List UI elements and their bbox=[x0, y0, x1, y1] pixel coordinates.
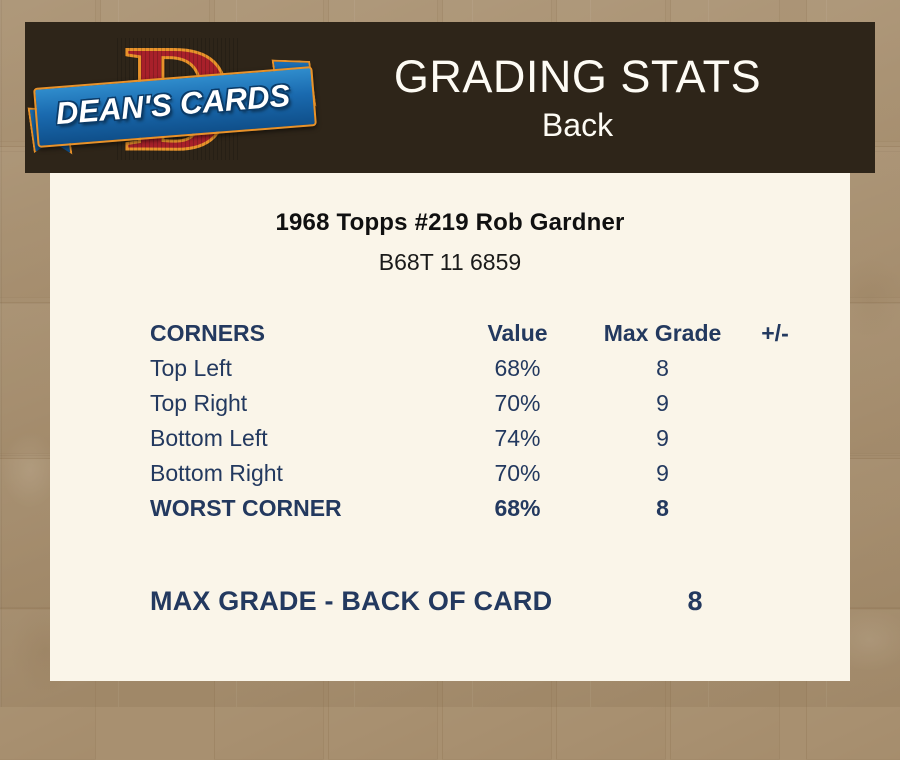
table-row: Top Right 70% 9 bbox=[150, 386, 810, 421]
row-max-grade: 9 bbox=[585, 386, 740, 421]
worst-corner-label: WORST CORNER bbox=[150, 491, 450, 526]
worst-corner-max-grade: 8 bbox=[585, 491, 740, 526]
row-max-grade: 9 bbox=[585, 421, 740, 456]
page-title: GRADING STATS bbox=[320, 54, 835, 99]
header-max-grade: Max Grade bbox=[585, 316, 740, 351]
row-label: Top Right bbox=[150, 386, 450, 421]
table-row: Top Left 68% 8 bbox=[150, 351, 810, 386]
table-body: Top Left 68% 8 Top Right 70% 9 Bottom Le… bbox=[150, 351, 810, 526]
row-plus-minus bbox=[740, 386, 810, 421]
table-row: Bottom Left 74% 9 bbox=[150, 421, 810, 456]
row-max-grade: 9 bbox=[585, 456, 740, 491]
table-header: CORNERS Value Max Grade +/- bbox=[150, 316, 810, 351]
row-plus-minus bbox=[740, 456, 810, 491]
row-value: 68% bbox=[450, 351, 585, 386]
worst-corner-value: 68% bbox=[450, 491, 585, 526]
row-label: Bottom Left bbox=[150, 421, 450, 456]
deans-cards-logo[interactable]: D DEAN'S CARDS bbox=[25, 22, 320, 173]
header-title-group: GRADING STATS Back bbox=[320, 54, 875, 141]
max-grade-summary: MAX GRADE - BACK OF CARD 8 bbox=[150, 586, 810, 617]
worst-corner-plus-minus bbox=[740, 491, 810, 526]
header-bar: D DEAN'S CARDS GRADING STATS Back bbox=[25, 22, 875, 173]
logo-banner-text: DEAN'S CARDS bbox=[33, 66, 313, 143]
card-title: 1968 Topps #219 Rob Gardner bbox=[50, 173, 850, 237]
content-panel: 1968 Topps #219 Rob Gardner B68T 11 6859… bbox=[50, 173, 850, 681]
row-plus-minus bbox=[740, 351, 810, 386]
row-label: Top Left bbox=[150, 351, 450, 386]
row-value: 70% bbox=[450, 456, 585, 491]
grading-stats-page: D DEAN'S CARDS GRADING STATS Back 1968 T… bbox=[0, 0, 900, 707]
table-row: Bottom Right 70% 9 bbox=[150, 456, 810, 491]
header-value: Value bbox=[450, 316, 585, 351]
max-grade-value: 8 bbox=[650, 586, 740, 617]
row-max-grade: 8 bbox=[585, 351, 740, 386]
row-label: Bottom Right bbox=[150, 456, 450, 491]
corners-stats-table: CORNERS Value Max Grade +/- Top Left 68%… bbox=[150, 316, 810, 526]
max-grade-label: MAX GRADE - BACK OF CARD bbox=[150, 586, 650, 617]
row-value: 70% bbox=[450, 386, 585, 421]
card-identifier: B68T 11 6859 bbox=[50, 249, 850, 276]
header-corners: CORNERS bbox=[150, 316, 450, 351]
page-subtitle: Back bbox=[320, 109, 835, 141]
row-value: 74% bbox=[450, 421, 585, 456]
table-header-row: CORNERS Value Max Grade +/- bbox=[150, 316, 810, 351]
worst-corner-row: WORST CORNER 68% 8 bbox=[150, 491, 810, 526]
header-plus-minus: +/- bbox=[740, 316, 810, 351]
row-plus-minus bbox=[740, 421, 810, 456]
